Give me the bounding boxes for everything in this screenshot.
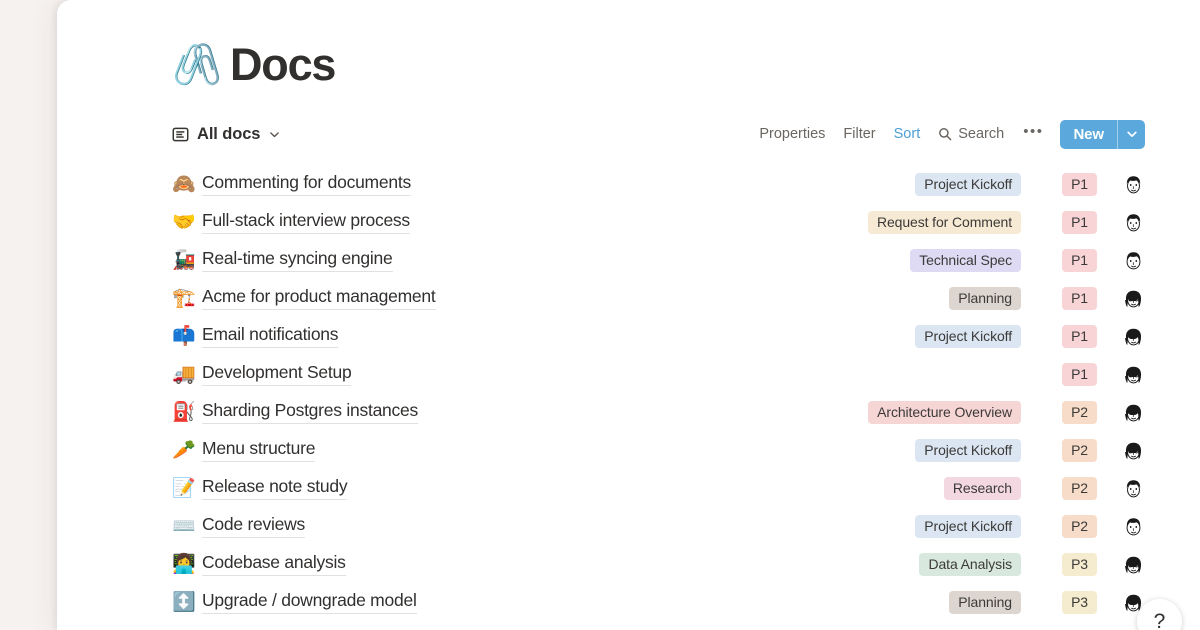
docs-list: 🙈Commenting for documentsProject Kickoff… [170,165,1145,621]
help-button[interactable]: ? [1137,599,1182,630]
priority-cell: P2 [1035,401,1097,424]
tag-badge[interactable]: Architecture Overview [868,401,1021,424]
view-selector[interactable]: All docs [172,125,280,144]
priority-cell: P1 [1035,363,1097,386]
list-view-icon [172,126,189,143]
table-row[interactable]: 🥕Menu structureProject KickoffP2 [170,431,1145,469]
avatar[interactable] [1122,325,1145,348]
priority-cell: P3 [1035,553,1097,576]
doc-title-link[interactable]: Acme for product management [202,286,436,310]
table-row[interactable]: 📫Email notificationsProject KickoffP1 [170,317,1145,355]
owner-cell [1103,287,1145,310]
fuel-pump-icon: ⛽ [172,403,202,422]
avatar[interactable] [1122,401,1145,424]
new-button-group[interactable]: New [1060,120,1145,149]
doc-title-link[interactable]: Upgrade / downgrade model [202,590,417,614]
avatar[interactable] [1122,553,1145,576]
table-row[interactable]: 🤝Full-stack interview processRequest for… [170,203,1145,241]
page-title: Docs [230,42,335,87]
priority-badge[interactable]: P3 [1062,553,1097,576]
doc-title-link[interactable]: Email notifications [202,324,338,348]
page-header: 🖇️ Docs [170,0,1145,87]
doc-title-link[interactable]: Release note study [202,476,347,500]
priority-badge[interactable]: P2 [1062,401,1097,424]
priority-badge[interactable]: P1 [1062,363,1097,386]
tag-badge[interactable]: Planning [949,287,1021,310]
search-label: Search [958,126,1004,142]
avatar[interactable] [1122,439,1145,462]
avatar[interactable] [1122,363,1145,386]
priority-badge[interactable]: P3 [1062,591,1097,614]
doc-title-link[interactable]: Commenting for documents [202,172,411,196]
priority-cell: P3 [1035,591,1097,614]
tag-badge[interactable]: Project Kickoff [915,325,1021,348]
tag-badge[interactable]: Planning [949,591,1021,614]
sort-button[interactable]: Sort [885,122,930,146]
priority-badge[interactable]: P2 [1062,439,1097,462]
chevron-down-icon [269,129,280,140]
new-button[interactable]: New [1060,120,1117,149]
owner-cell [1103,211,1145,234]
more-options-button[interactable]: ••• [1013,122,1053,147]
building-construction-icon: 🏗️ [172,289,202,308]
see-no-evil-monkey-icon: 🙈 [172,175,202,194]
owner-cell [1103,363,1145,386]
up-down-arrow-icon: ↕️ [172,593,202,612]
locomotive-icon: 🚂 [172,251,202,270]
priority-cell: P1 [1035,211,1097,234]
priority-badge[interactable]: P2 [1062,477,1097,500]
priority-badge[interactable]: P1 [1062,211,1097,234]
priority-cell: P2 [1035,439,1097,462]
toolbar-actions: Properties Filter Sort Search ••• [750,120,1145,149]
priority-badge[interactable]: P2 [1062,515,1097,538]
owner-cell [1103,553,1145,576]
tag-badge[interactable]: Technical Spec [910,249,1021,272]
doc-title-link[interactable]: Real-time syncing engine [202,248,393,272]
avatar[interactable] [1122,249,1145,272]
table-row[interactable]: 🙈Commenting for documentsProject Kickoff… [170,165,1145,203]
tag-badge[interactable]: Research [944,477,1021,500]
owner-cell [1103,439,1145,462]
table-row[interactable]: 👩‍💻Codebase analysisData AnalysisP3 [170,545,1145,583]
search-icon [938,127,952,141]
table-row[interactable]: ↕️Upgrade / downgrade modelPlanningP3 [170,583,1145,621]
app-window: 🖇️ Docs All docs [0,0,1200,630]
doc-title-link[interactable]: Full-stack interview process [202,210,410,234]
woman-technologist-icon: 👩‍💻 [172,555,202,574]
table-row[interactable]: ⌨️Code reviewsProject KickoffP2 [170,507,1145,545]
table-row[interactable]: 📝Release note studyResearchP2 [170,469,1145,507]
table-row[interactable]: 🚚Development SetupP1 [170,355,1145,393]
view-selector-label: All docs [197,125,260,144]
priority-cell: P1 [1035,287,1097,310]
doc-title-link[interactable]: Development Setup [202,362,351,386]
handshake-icon: 🤝 [172,213,202,232]
priority-cell: P1 [1035,325,1097,348]
owner-cell [1103,249,1145,272]
owner-cell [1103,515,1145,538]
priority-cell: P1 [1035,173,1097,196]
priority-badge[interactable]: P1 [1062,325,1097,348]
priority-cell: P2 [1035,477,1097,500]
docs-page: 🖇️ Docs All docs [170,0,1145,630]
properties-button[interactable]: Properties [750,122,834,146]
memo-icon: 📝 [172,479,202,498]
keyboard-icon: ⌨️ [172,517,202,536]
filter-button[interactable]: Filter [834,122,884,146]
carrot-icon: 🥕 [172,441,202,460]
owner-cell [1103,477,1145,500]
avatar[interactable] [1122,477,1145,500]
priority-badge[interactable]: P1 [1062,287,1097,310]
owner-cell [1103,325,1145,348]
help-label: ? [1154,610,1166,630]
tag-badge[interactable]: Project Kickoff [915,173,1021,196]
avatar[interactable] [1122,173,1145,196]
tag-badge[interactable]: Project Kickoff [915,439,1021,462]
doc-title-link[interactable]: Codebase analysis [202,552,346,576]
tag-badge[interactable]: Project Kickoff [915,515,1021,538]
doc-title-link[interactable]: Menu structure [202,438,315,462]
priority-cell: P1 [1035,249,1097,272]
new-button-chevron-down-icon[interactable] [1118,120,1145,149]
tag-badge[interactable]: Data Analysis [919,553,1021,576]
table-row[interactable]: 🚂Real-time syncing engineTechnical SpecP… [170,241,1145,279]
priority-badge[interactable]: P1 [1062,249,1097,272]
owner-cell [1103,401,1145,424]
doc-title-link[interactable]: Code reviews [202,514,305,538]
toolbar: All docs Properties Filter Sort [170,119,1145,149]
avatar[interactable] [1122,515,1145,538]
delivery-truck-icon: 🚚 [172,365,202,384]
search-button[interactable]: Search [929,122,1013,146]
doc-title-link[interactable]: Sharding Postgres instances [202,400,418,424]
owner-cell [1103,173,1145,196]
mailbox-raised-flag-icon: 📫 [172,327,202,346]
avatar[interactable] [1122,287,1145,310]
content-panel: 🖇️ Docs All docs [57,0,1200,630]
table-row[interactable]: ⛽Sharding Postgres instancesArchitecture… [170,393,1145,431]
tag-badge[interactable]: Request for Comment [868,211,1021,234]
avatar[interactable] [1122,211,1145,234]
priority-badge[interactable]: P1 [1062,173,1097,196]
priority-cell: P2 [1035,515,1097,538]
paperclip-icon: 🖇️ [172,45,216,85]
table-row[interactable]: 🏗️Acme for product managementPlanningP1 [170,279,1145,317]
